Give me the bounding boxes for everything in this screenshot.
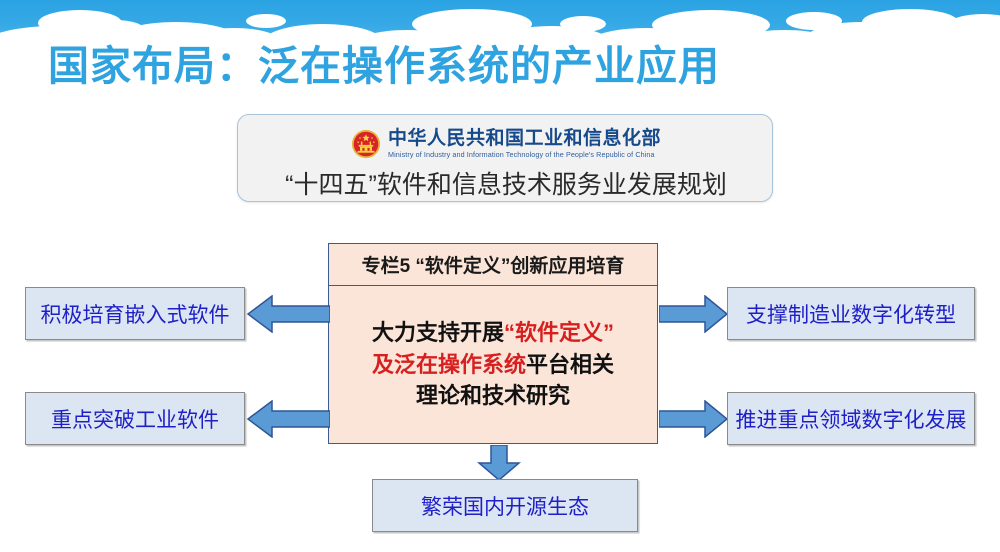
central-box-header-text: 专栏5 “软件定义”创新应用培育: [362, 251, 625, 278]
outcome-box-right-2[interactable]: 推进重点领域数字化发展: [727, 392, 975, 445]
ministry-header: 中华人民共和国工业和信息化部 Ministry of Industry and …: [238, 123, 774, 165]
outcome-box-label: 繁荣国内开源生态: [421, 491, 589, 521]
arrow-right-icon: [659, 295, 729, 333]
central-box-line: 理论和技术研究: [416, 380, 570, 412]
central-box-line: 大力支持开展“软件定义”: [372, 317, 614, 349]
ministry-name-en: Ministry of Industry and Information Tec…: [388, 151, 655, 160]
ministry-name-block: 中华人民共和国工业和信息化部 Ministry of Industry and …: [388, 129, 661, 160]
central-box-header: 专栏5 “软件定义”创新应用培育: [329, 244, 657, 286]
outcome-box-label: 推进重点领域数字化发展: [736, 404, 967, 434]
central-box-segment: 理论和技术研究: [416, 383, 570, 408]
page-title: 国家布局：泛在操作系统的产业应用: [48, 32, 720, 92]
central-box-line: 及泛在操作系统平台相关: [372, 349, 614, 381]
central-box-body: 大力支持开展“软件定义” 及泛在操作系统平台相关 理论和技术研究: [329, 286, 657, 443]
ministry-name-cn: 中华人民共和国工业和信息化部: [388, 129, 661, 149]
outcome-box-bottom[interactable]: 繁荣国内开源生态: [372, 479, 638, 532]
document-title: “十四五”软件和信息技术服务业发展规划: [238, 165, 774, 201]
outcome-box-label: 积极培育嵌入式软件: [41, 299, 230, 329]
outcome-box-label: 重点突破工业软件: [51, 404, 219, 434]
outcome-box-label: 支撑制造业数字化转型: [746, 299, 956, 329]
arrow-left-icon: [246, 295, 330, 333]
central-box-segment-highlight: 及泛在操作系统: [372, 352, 526, 377]
outcome-box-right-1[interactable]: 支撑制造业数字化转型: [727, 287, 975, 340]
central-box-segment: 平台相关: [526, 352, 614, 377]
ministry-document-card: 中华人民共和国工业和信息化部 Ministry of Industry and …: [237, 114, 773, 202]
outcome-box-left-1[interactable]: 积极培育嵌入式软件: [25, 287, 245, 340]
cloud-shape: [246, 14, 286, 28]
china-national-emblem-icon: [351, 129, 381, 159]
central-box-segment-highlight: “软件定义”: [504, 320, 614, 345]
central-box-segment: 大力支持开展: [372, 320, 504, 345]
outcome-box-left-2[interactable]: 重点突破工业软件: [25, 392, 245, 445]
arrow-right-icon: [659, 400, 729, 438]
cloud-shape: [560, 16, 606, 32]
central-policy-box: 专栏5 “软件定义”创新应用培育 大力支持开展“软件定义” 及泛在操作系统平台相…: [328, 243, 658, 444]
arrow-left-icon: [246, 400, 330, 438]
arrow-down-icon: [477, 445, 521, 481]
